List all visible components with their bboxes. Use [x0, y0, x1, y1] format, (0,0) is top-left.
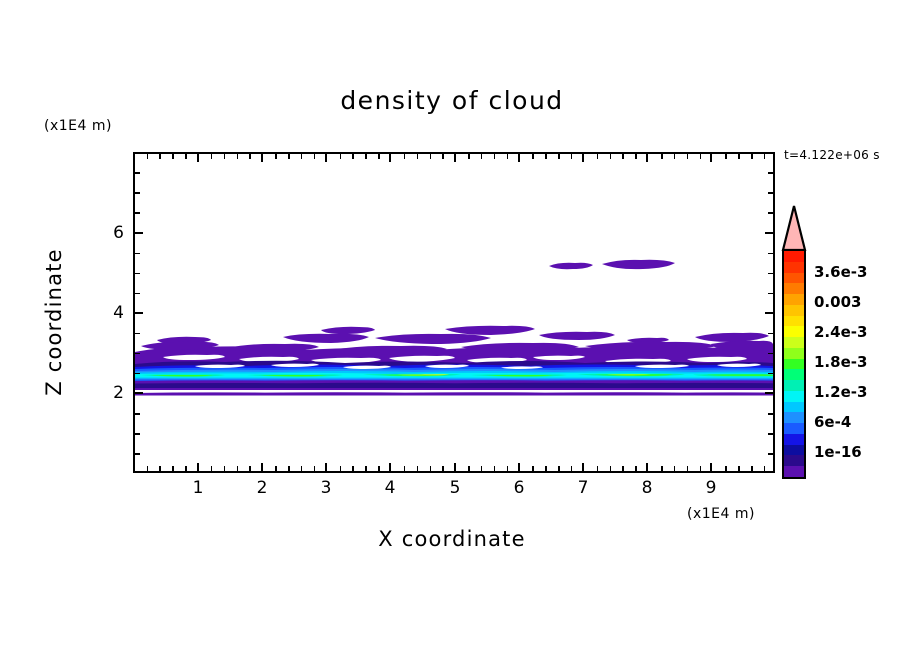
y-minor-tick-right: [768, 413, 775, 415]
y-major-tick-right: [765, 392, 775, 394]
x-minor-tick: [442, 466, 444, 473]
colorbar-band-0: [784, 251, 804, 262]
x-minor-tick: [249, 466, 251, 473]
colorbar-band-5: [784, 305, 804, 316]
y-major-tick: [133, 312, 143, 314]
x-minor-tick-top: [352, 152, 354, 159]
x-tick-label: 7: [568, 478, 598, 498]
colorbar-band-7: [784, 326, 804, 337]
x-minor-tick: [571, 466, 573, 473]
x-major-tick: [454, 463, 456, 473]
colorbar-band-12: [784, 380, 804, 391]
x-tick-label: 1: [183, 478, 213, 498]
x-minor-tick: [635, 466, 637, 473]
y-minor-tick-right: [768, 172, 775, 174]
x-minor-tick-top: [481, 152, 483, 159]
x-tick-label: 3: [311, 478, 341, 498]
x-minor-tick: [352, 466, 354, 473]
x-minor-tick-top: [237, 152, 239, 159]
y-minor-tick-right: [768, 333, 775, 335]
x-minor-tick: [725, 466, 727, 473]
y-minor-tick: [133, 373, 140, 375]
x-minor-tick-top: [430, 152, 432, 159]
colorbar-band-2: [784, 273, 804, 284]
x-minor-tick: [507, 466, 509, 473]
colorbar-band-13: [784, 391, 804, 402]
x-minor-tick-top: [275, 152, 277, 159]
x-major-tick-top: [582, 152, 584, 162]
colorbar-band-8: [784, 337, 804, 348]
colorbar-label: 1.8e-3: [814, 353, 867, 371]
x-minor-tick: [275, 466, 277, 473]
x-major-tick: [389, 463, 391, 473]
colorbar-band-17: [784, 434, 804, 445]
x-minor-tick-top: [172, 152, 174, 159]
x-minor-tick: [764, 466, 766, 473]
colorbar-band-10: [784, 359, 804, 370]
x-minor-tick: [430, 466, 432, 473]
x-minor-tick-top: [610, 152, 612, 159]
contour-field: [135, 154, 773, 471]
x-tick-label: 8: [632, 478, 662, 498]
x-minor-tick-top: [674, 152, 676, 159]
colorbar-band-1: [784, 262, 804, 273]
x-major-tick-top: [197, 152, 199, 162]
colorbar-label: 1e-16: [814, 443, 862, 461]
x-minor-tick: [751, 466, 753, 473]
x-major-tick-top: [261, 152, 263, 162]
x-major-tick: [261, 463, 263, 473]
x-tick-label: 4: [375, 478, 405, 498]
y-minor-tick: [133, 293, 140, 295]
y-minor-tick: [133, 172, 140, 174]
colorbar-band-6: [784, 316, 804, 327]
x-major-tick: [582, 463, 584, 473]
x-minor-tick: [365, 466, 367, 473]
colorbar-bands: [782, 249, 806, 479]
y-minor-tick: [133, 353, 140, 355]
x-minor-tick-top: [288, 152, 290, 159]
x-minor-tick: [687, 466, 689, 473]
x-major-tick-top: [518, 152, 520, 162]
y-axis-unit-label: (x1E4 m): [44, 118, 112, 134]
y-minor-tick: [133, 253, 140, 255]
y-minor-tick: [133, 212, 140, 214]
colorbar-band-20: [784, 466, 804, 477]
x-major-tick: [325, 463, 327, 473]
x-major-tick: [197, 463, 199, 473]
x-minor-tick: [610, 466, 612, 473]
x-minor-tick: [404, 466, 406, 473]
x-minor-tick: [417, 466, 419, 473]
colorbar-band-11: [784, 369, 804, 380]
x-major-tick: [710, 463, 712, 473]
x-minor-tick-top: [494, 152, 496, 159]
chart-title: density of cloud: [0, 86, 904, 115]
y-major-tick: [133, 232, 143, 234]
x-minor-tick: [237, 466, 239, 473]
colorbar-band-15: [784, 412, 804, 423]
y-minor-tick: [133, 192, 140, 194]
colorbar-label: 0.003: [814, 293, 861, 311]
x-major-tick: [646, 463, 648, 473]
x-minor-tick-top: [738, 152, 740, 159]
y-tick-label: 6: [94, 223, 124, 243]
x-minor-tick-top: [249, 152, 251, 159]
x-minor-tick: [147, 466, 149, 473]
x-minor-tick-top: [532, 152, 534, 159]
colorbar-band-14: [784, 402, 804, 413]
colorbar-band-4: [784, 294, 804, 305]
x-minor-tick-top: [468, 152, 470, 159]
x-minor-tick: [159, 466, 161, 473]
colorbar-arrow-icon: [781, 205, 807, 251]
y-minor-tick: [133, 273, 140, 275]
x-minor-tick-top: [314, 152, 316, 159]
x-minor-tick: [558, 466, 560, 473]
colorbar-band-16: [784, 423, 804, 434]
x-major-tick-top: [389, 152, 391, 162]
colorbar-band-19: [784, 455, 804, 466]
y-minor-tick: [133, 413, 140, 415]
colorbar-band-3: [784, 283, 804, 294]
x-minor-tick-top: [597, 152, 599, 159]
x-minor-tick: [314, 466, 316, 473]
x-minor-tick: [185, 466, 187, 473]
y-major-tick: [133, 392, 143, 394]
x-minor-tick-top: [751, 152, 753, 159]
x-major-tick: [518, 463, 520, 473]
figure-canvas: density of cloud (x1E4 m) t=4.122e+06 s: [0, 0, 904, 654]
x-minor-tick: [172, 466, 174, 473]
x-minor-tick: [301, 466, 303, 473]
y-minor-tick-right: [768, 353, 775, 355]
x-minor-tick: [481, 466, 483, 473]
y-minor-tick-right: [768, 433, 775, 435]
x-minor-tick: [738, 466, 740, 473]
x-minor-tick-top: [442, 152, 444, 159]
x-minor-tick-top: [211, 152, 213, 159]
colorbar-label: 1.2e-3: [814, 383, 867, 401]
x-minor-tick-top: [507, 152, 509, 159]
x-major-tick-top: [454, 152, 456, 162]
x-tick-label: 9: [696, 478, 726, 498]
timestamp-annotation: t=4.122e+06 s: [784, 148, 880, 162]
y-tick-label: 2: [94, 383, 124, 403]
x-minor-tick-top: [417, 152, 419, 159]
y-minor-tick-right: [768, 373, 775, 375]
y-minor-tick-right: [768, 212, 775, 214]
x-major-tick-top: [325, 152, 327, 162]
x-minor-tick-top: [725, 152, 727, 159]
x-major-tick-top: [646, 152, 648, 162]
y-major-tick-right: [765, 312, 775, 314]
x-minor-tick-top: [661, 152, 663, 159]
x-minor-tick: [494, 466, 496, 473]
y-tick-label: 4: [94, 303, 124, 323]
x-minor-tick: [288, 466, 290, 473]
plot-area: [133, 152, 775, 473]
x-minor-tick-top: [545, 152, 547, 159]
x-minor-tick: [700, 466, 702, 473]
x-minor-tick: [661, 466, 663, 473]
x-minor-tick-top: [301, 152, 303, 159]
y-minor-tick-right: [768, 453, 775, 455]
y-minor-tick: [133, 433, 140, 435]
colorbar-label: 3.6e-3: [814, 263, 867, 281]
y-minor-tick-right: [768, 253, 775, 255]
colorbar-band-9: [784, 348, 804, 359]
x-minor-tick-top: [185, 152, 187, 159]
x-minor-tick: [622, 466, 624, 473]
x-minor-tick-top: [687, 152, 689, 159]
x-minor-tick: [597, 466, 599, 473]
y-major-tick-right: [765, 232, 775, 234]
y-axis-title: Z coordinate: [42, 202, 66, 442]
colorbar-label: 2.4e-3: [814, 323, 867, 341]
x-minor-tick-top: [340, 152, 342, 159]
y-minor-tick-right: [768, 293, 775, 295]
x-minor-tick-top: [147, 152, 149, 159]
colorbar-band-18: [784, 445, 804, 456]
x-minor-tick-top: [159, 152, 161, 159]
x-axis-unit-label: (x1E4 m): [687, 506, 755, 522]
x-axis-title: X coordinate: [0, 527, 904, 551]
x-tick-label: 6: [504, 478, 534, 498]
y-minor-tick-right: [768, 273, 775, 275]
x-minor-tick-top: [700, 152, 702, 159]
x-minor-tick-top: [404, 152, 406, 159]
y-minor-tick: [133, 333, 140, 335]
x-minor-tick: [378, 466, 380, 473]
x-minor-tick-top: [622, 152, 624, 159]
x-tick-label: 2: [247, 478, 277, 498]
x-minor-tick: [468, 466, 470, 473]
x-major-tick-top: [710, 152, 712, 162]
x-minor-tick: [224, 466, 226, 473]
x-minor-tick: [532, 466, 534, 473]
x-minor-tick: [674, 466, 676, 473]
x-tick-label: 5: [440, 478, 470, 498]
x-minor-tick-top: [571, 152, 573, 159]
x-minor-tick-top: [378, 152, 380, 159]
x-minor-tick: [340, 466, 342, 473]
x-minor-tick: [211, 466, 213, 473]
x-minor-tick-top: [365, 152, 367, 159]
y-minor-tick-right: [768, 192, 775, 194]
x-minor-tick-top: [224, 152, 226, 159]
x-minor-tick-top: [558, 152, 560, 159]
x-minor-tick-top: [635, 152, 637, 159]
x-minor-tick-top: [764, 152, 766, 159]
colorbar-label: 6e-4: [814, 413, 851, 431]
x-minor-tick: [545, 466, 547, 473]
y-minor-tick: [133, 453, 140, 455]
